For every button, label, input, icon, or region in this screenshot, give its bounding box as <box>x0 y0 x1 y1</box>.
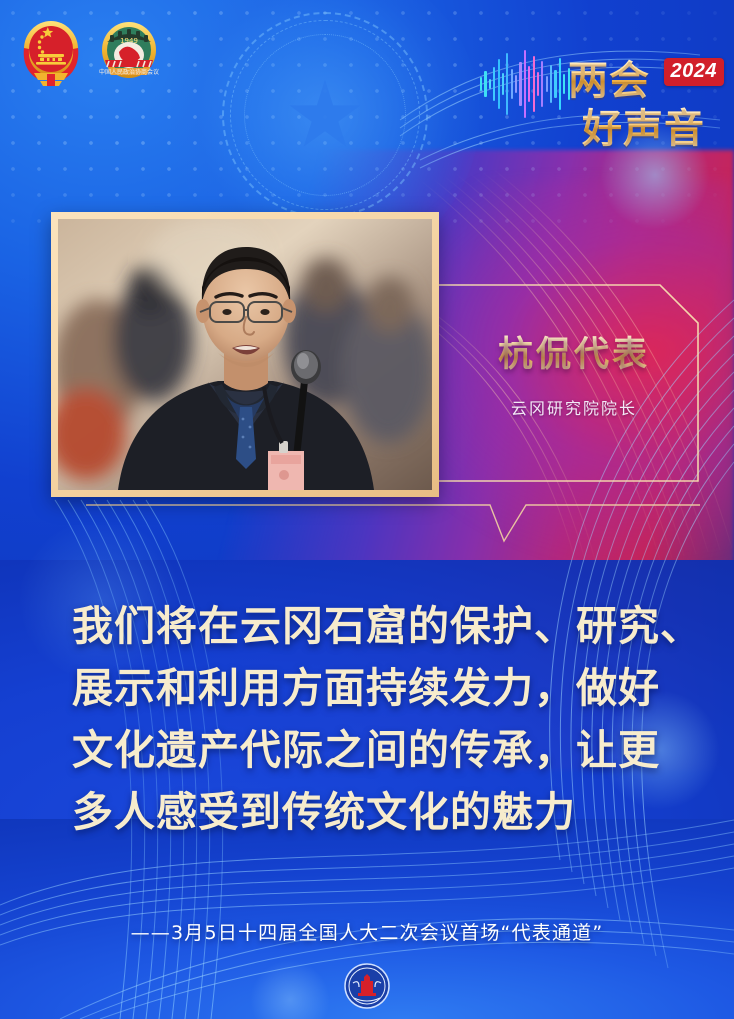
quote-line-2: 展示和利用方面持续发力，做好 <box>72 657 672 719</box>
cppcc-emblem-icon: 1949 中国人民政治协商会议 <box>96 18 162 90</box>
speaker-photo-frame <box>51 212 439 497</box>
footer-source-text: ——3月5日十四届全国人大二次会议首场“代表通道” <box>0 918 734 945</box>
quote-line-3: 文化遗产代际之间的传承，让更 <box>72 719 672 781</box>
speaker-info: 杭侃代表 云冈研究院院长 <box>448 326 700 419</box>
emblem-group: 1949 中国人民政治协商会议 <box>18 18 162 90</box>
quote-line-4: 多人感受到传统文化的魅力 <box>72 781 672 843</box>
logo-text-block: 两会 2024 好声音 <box>568 46 720 146</box>
quote-block: 我们将在云冈石窟的保护、研究、 展示和利用方面持续发力，做好 文化遗产代际之间的… <box>72 595 672 843</box>
audio-waveform-icon <box>480 48 576 120</box>
poster-root: 1949 中国人民政治协商会议 <box>0 0 734 1019</box>
svg-text:中国人民政治协商会议: 中国人民政治协商会议 <box>99 68 159 76</box>
logo-line-2: 好声音 <box>582 96 705 154</box>
speaker-photo <box>58 219 432 490</box>
program-logo: 两会 2024 好声音 <box>480 40 720 150</box>
year-badge: 2024 <box>664 58 725 86</box>
footer-block: ——3月5日十四届全国人大二次会议首场“代表通道” <box>0 918 734 945</box>
speaker-name: 杭侃代表 <box>448 326 700 377</box>
circular-media-logo-icon <box>344 963 390 1009</box>
national-emblem-of-china-icon <box>18 18 84 90</box>
speaker-title: 云冈研究院院长 <box>448 395 700 419</box>
quote-line-1: 我们将在云冈石窟的保护、研究、 <box>72 595 672 657</box>
